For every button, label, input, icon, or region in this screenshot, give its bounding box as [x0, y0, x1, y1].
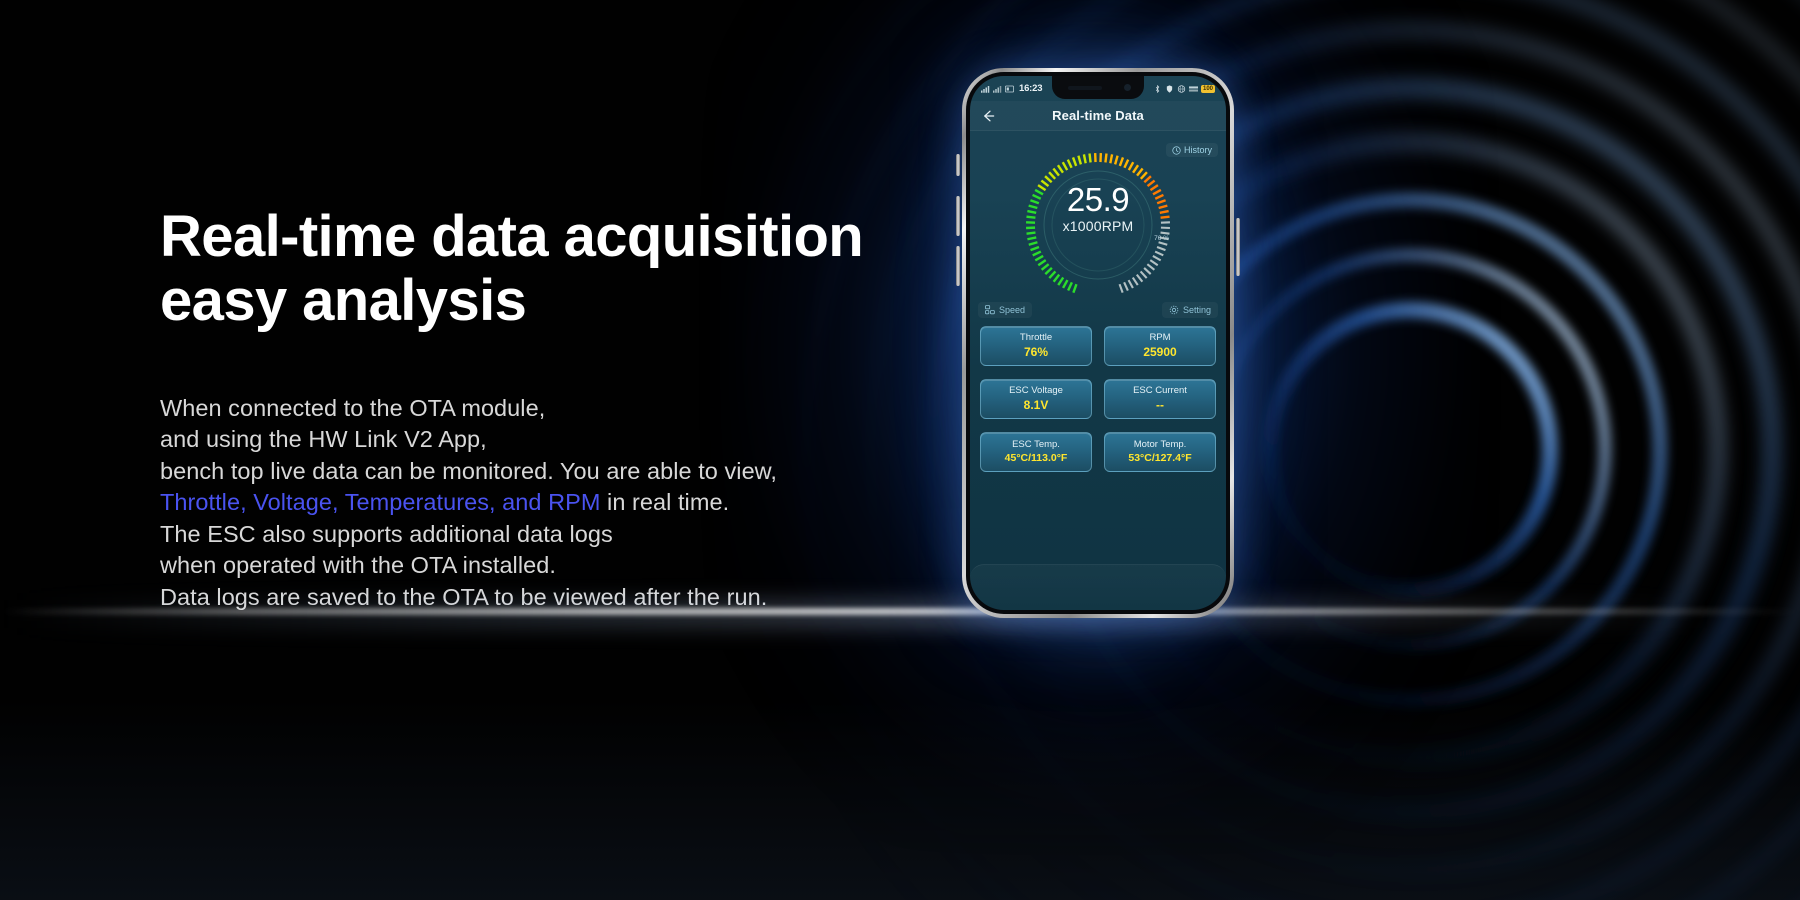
- tile-label: RPM: [1149, 332, 1170, 344]
- power-button[interactable]: [1236, 218, 1240, 276]
- tile-label: ESC Current: [1133, 385, 1187, 397]
- speed-button[interactable]: Speed: [978, 302, 1032, 318]
- sim-icon: [1005, 85, 1014, 93]
- tile-value: 76%: [1024, 344, 1048, 360]
- app-header: Real-time Data: [970, 101, 1226, 131]
- body-line-4-rest: in real time.: [600, 489, 729, 515]
- tile-row: Throttle 76% RPM 25900: [980, 326, 1216, 366]
- status-bar-left: 16:23: [981, 83, 1042, 94]
- volume-down-button[interactable]: [956, 246, 960, 286]
- history-label: History: [1184, 145, 1212, 155]
- setting-label: Setting: [1183, 305, 1211, 315]
- speed-icon: [985, 305, 995, 315]
- body-line-1: When connected to the OTA module,: [160, 393, 1040, 425]
- rpm-gauge: 25.9 x1000RPM 76 %: [1018, 145, 1178, 305]
- app-title: Real-time Data: [996, 108, 1200, 123]
- tile-motor-temp[interactable]: Motor Temp. 53°C/127.4°F: [1104, 432, 1216, 472]
- hero-banner: Real-time data acquisition easy analysis…: [0, 0, 1800, 900]
- tile-label: Motor Temp.: [1134, 439, 1187, 451]
- tile-throttle[interactable]: Throttle 76%: [980, 326, 1092, 366]
- gear-icon: [1169, 305, 1179, 315]
- data-tiles: Throttle 76% RPM 25900 ESC Voltage 8.1V: [970, 326, 1226, 472]
- speed-label: Speed: [999, 305, 1025, 315]
- tile-row: ESC Voltage 8.1V ESC Current --: [980, 379, 1216, 419]
- gauge-percent-label: 76 %: [1154, 235, 1169, 242]
- phone-device: 16:23: [962, 68, 1234, 618]
- status-bar-time: 16:23: [1019, 83, 1042, 94]
- tile-value: --: [1156, 397, 1164, 413]
- body-line-5: The ESC also supports additional data lo…: [160, 519, 1040, 551]
- bottom-gradient: [0, 700, 1800, 900]
- signal-icon: [981, 85, 990, 93]
- globe-icon: [1177, 85, 1186, 93]
- tile-esc-current[interactable]: ESC Current --: [1104, 379, 1216, 419]
- volume-up-button[interactable]: [956, 196, 960, 236]
- tile-value: 45°C/113.0°F: [1005, 451, 1068, 465]
- data-rate-icon: [1189, 85, 1198, 93]
- horizon-streak: [0, 608, 1800, 615]
- setting-button[interactable]: Setting: [1162, 302, 1218, 318]
- silent-switch[interactable]: [956, 154, 960, 176]
- tile-label: ESC Voltage: [1009, 385, 1063, 397]
- gauge-panel: History 25.9 x1000RPM 76 %: [970, 131, 1226, 326]
- hero-body: When connected to the OTA module, and us…: [160, 393, 1040, 614]
- phone-screen: 16:23: [970, 76, 1226, 610]
- gauge-unit: x1000RPM: [1018, 218, 1178, 234]
- body-line-2: and using the HW Link V2 App,: [160, 424, 1040, 456]
- shield-icon: [1165, 85, 1174, 93]
- tile-label: Throttle: [1020, 332, 1052, 344]
- signal-icon: [993, 85, 1002, 93]
- tile-value: 25900: [1143, 344, 1176, 360]
- tile-esc-voltage[interactable]: ESC Voltage 8.1V: [980, 379, 1092, 419]
- body-line-3: bench top live data can be monitored. Yo…: [160, 456, 1040, 488]
- status-bar: 16:23: [970, 76, 1226, 101]
- tile-label: ESC Temp.: [1012, 439, 1060, 451]
- phone-bezel: 16:23: [966, 72, 1230, 614]
- hero-copy: Real-time data acquisition easy analysis…: [160, 205, 1040, 613]
- tile-esc-temp[interactable]: ESC Temp. 45°C/113.0°F: [980, 432, 1092, 472]
- home-indicator-area: [970, 564, 1226, 610]
- headline-line-1: Real-time data acquisition: [160, 204, 863, 269]
- tile-value: 53°C/127.4°F: [1128, 451, 1191, 465]
- tile-row: ESC Temp. 45°C/113.0°F Motor Temp. 53°C/…: [980, 432, 1216, 472]
- highlighted-metrics: Throttle, Voltage, Temperatures, and RPM: [160, 489, 600, 515]
- tile-rpm[interactable]: RPM 25900: [1104, 326, 1216, 366]
- tile-value: 8.1V: [1024, 397, 1049, 413]
- headline-line-2: easy analysis: [160, 269, 1040, 333]
- battery-indicator: 100: [1201, 85, 1215, 93]
- back-arrow-icon[interactable]: [980, 108, 996, 124]
- page-title: Real-time data acquisition easy analysis: [160, 205, 1040, 333]
- gauge-value: 25.9: [1018, 181, 1178, 219]
- bluetooth-icon: [1153, 85, 1162, 93]
- status-bar-right: 100: [1153, 85, 1215, 93]
- body-line-4: Throttle, Voltage, Temperatures, and RPM…: [160, 487, 1040, 519]
- body-line-6: when operated with the OTA installed.: [160, 550, 1040, 582]
